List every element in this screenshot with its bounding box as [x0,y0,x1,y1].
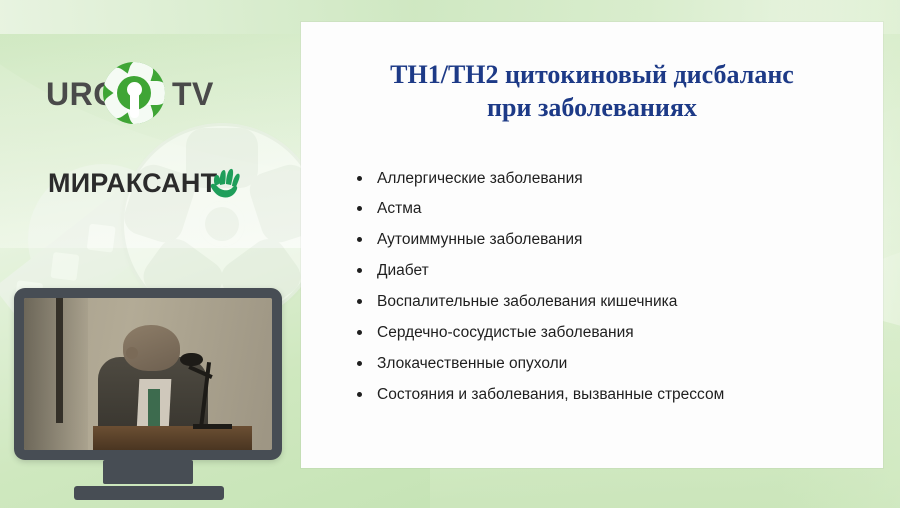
miraxant-logo[interactable]: МИРАКСАНТ* [48,168,223,202]
bullet-dot-icon [357,206,362,211]
video-microphone-base [193,424,233,429]
video-speaker-lanyard [148,389,160,429]
slide-title-line-2: при заболеваниях [341,91,843,124]
green-hand-leaf-icon [208,166,246,200]
video-microphone [180,353,202,367]
bullet-dot-icon [357,330,362,335]
list-item: Астма [355,199,883,218]
video-screen[interactable] [24,298,272,450]
presentation-slide: TH1/TH2 цитокиновый дисбаланс при заболе… [301,22,883,468]
list-item-label: Воспалительные заболевания кишечника [377,293,677,310]
list-item-label: Злокачественные опухоли [377,355,567,372]
list-item: Аллергические заболевания [355,169,883,188]
bullet-dot-icon [357,299,362,304]
miraxant-logo-text: МИРАКСАНТ [48,168,217,198]
list-item: Аутоиммунные заболевания [355,230,883,249]
list-item: Состояния и заболевания, вызванные стрес… [355,385,883,404]
urotv-aperture-mark-icon [103,62,165,124]
list-item-label: Аутоиммунные заболевания [377,231,582,248]
monitor-base [74,486,224,500]
urotv-logo-tv-text: TV [172,76,214,113]
slide-title-line-1: TH1/TH2 цитокиновый дисбаланс [341,58,843,91]
bullet-dot-icon [357,361,362,366]
list-item-label: Сердечно-сосудистые заболевания [377,324,634,341]
urotv-logo[interactable]: URO TV [46,62,236,124]
list-item-label: Аллергические заболевания [377,170,583,187]
bullet-dot-icon [357,237,362,242]
list-item: Злокачественные опухоли [355,354,883,373]
video-monitor[interactable] [14,288,282,460]
list-item-label: Состояния и заболевания, вызванные стрес… [377,386,724,403]
bullet-dot-icon [357,268,362,273]
list-item-label: Астма [377,200,421,217]
bullet-dot-icon [357,176,362,181]
video-speaker-ear [126,347,138,359]
slide-title: TH1/TH2 цитокиновый дисбаланс при заболе… [341,58,843,125]
slide-stage: URO TV МИРАКСАНТ* [0,0,900,508]
list-item-label: Диабет [377,262,429,279]
list-item: Диабет [355,261,883,280]
list-item: Воспалительные заболевания кишечника [355,292,883,311]
video-podium [93,426,252,450]
monitor-neck [103,460,193,484]
video-dark-stripe [56,298,63,423]
bullet-dot-icon [357,392,362,397]
list-item: Сердечно-сосудистые заболевания [355,323,883,342]
slide-bullet-list: Аллергические заболевания Астма Аутоимму… [355,169,883,405]
